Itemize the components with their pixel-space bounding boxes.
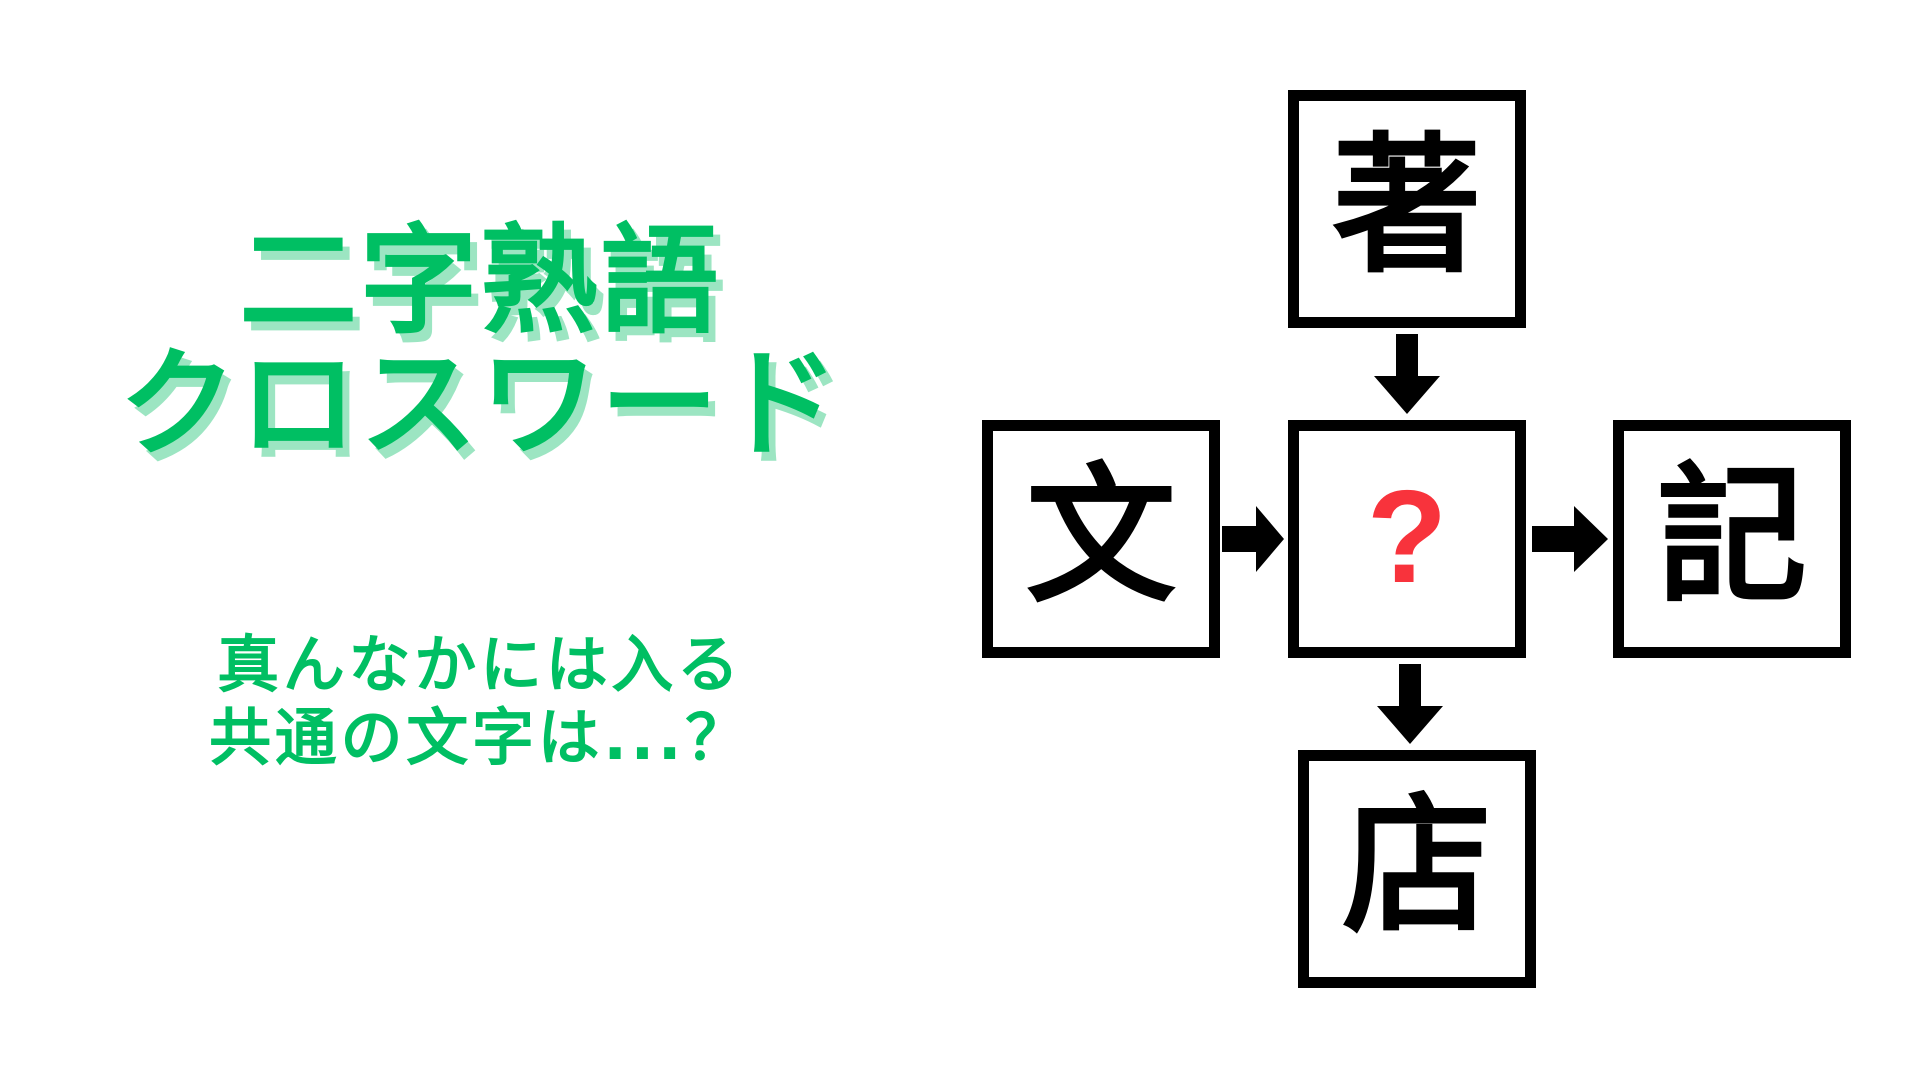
title-block: 二字熟語 クロスワード 真んなかには入る 共通の文字は...？: [0, 220, 960, 840]
cell-center-answer[interactable]: ?: [1288, 420, 1526, 658]
cell-left-glyph: 文: [1026, 462, 1176, 612]
arrow-right-icon-left: [1222, 504, 1284, 574]
arrow-down-icon-bottom: [1375, 664, 1445, 744]
cell-top[interactable]: 著: [1288, 90, 1526, 328]
cell-right-glyph: 記: [1657, 462, 1807, 612]
cell-right[interactable]: 記: [1613, 420, 1851, 658]
title-line-1: 二字熟語: [0, 220, 960, 343]
crossword-diagram: 著 文 ? 記: [960, 0, 1920, 1080]
cell-top-glyph: 著: [1332, 132, 1482, 282]
puzzle-slide: 二字熟語 クロスワード 真んなかには入る 共通の文字は...？ 著 文: [0, 0, 1920, 1080]
subtitle-line-1: 真んなかには入る: [0, 628, 960, 701]
arrow-right-icon-right: [1532, 504, 1608, 574]
title-line-2: クロスワード: [0, 343, 960, 466]
cell-bottom[interactable]: 店: [1298, 750, 1536, 988]
title-heading: 二字熟語 クロスワード: [0, 220, 960, 465]
subtitle-block: 真んなかには入る 共通の文字は...？: [0, 628, 960, 774]
arrow-down-icon-top: [1372, 334, 1442, 414]
cell-left[interactable]: 文: [982, 420, 1220, 658]
cell-center-glyph: ?: [1367, 471, 1448, 603]
cell-bottom-glyph: 店: [1342, 792, 1492, 942]
subtitle-line-2: 共通の文字は...？: [0, 701, 960, 774]
